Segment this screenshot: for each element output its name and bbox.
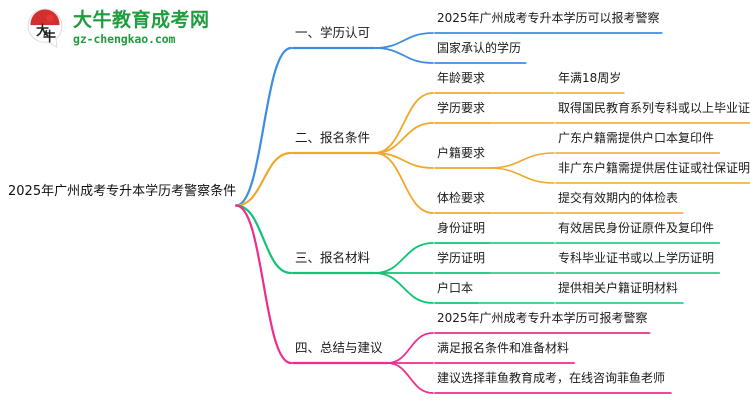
mindmap-links	[236, 33, 750, 393]
mindmap-node-depth-3[interactable]: 有效居民身份证原件及复印件	[558, 222, 714, 234]
mindmap-node-depth-1[interactable]: 一、学历认可	[295, 27, 370, 40]
mindmap-node-depth-1[interactable]: 二、报名条件	[295, 132, 370, 145]
mindmap-node-depth-1[interactable]: 三、报名材料	[295, 252, 370, 265]
mindmap-node-depth-3[interactable]: 提交有效期内的体检表	[558, 192, 678, 204]
mindmap-connector	[375, 243, 433, 273]
mindmap-node-depth-3[interactable]: 专科毕业证书或以上学历证明	[558, 252, 714, 264]
mindmap-connector	[375, 93, 433, 153]
mindmap-node-depth-2[interactable]: 身份证明	[437, 222, 485, 234]
mindmap-connector	[236, 153, 291, 206]
mindmap-connector	[236, 206, 291, 274]
mindmap-connector	[236, 206, 291, 364]
mindmap-root-node[interactable]: 2025年广州成考专升本学历考警察条件	[8, 185, 236, 198]
mindmap-node-depth-2[interactable]: 国家承认的学历	[437, 42, 521, 54]
mindmap-node-depth-3[interactable]: 提供相关户籍证明材料	[558, 282, 678, 294]
mindmap-connector	[375, 273, 433, 303]
mindmap-node-depth-2[interactable]: 学历证明	[437, 252, 485, 264]
mindmap-node-depth-2[interactable]: 满足报名条件和准备材料	[437, 342, 569, 354]
mindmap-node-depth-2[interactable]: 2025年广州成考专升本学历可报考警察	[437, 312, 648, 324]
mindmap-connector	[375, 123, 433, 153]
mindmap-connector	[489, 153, 554, 168]
mindmap-connector	[236, 48, 291, 206]
mindmap-connector	[375, 48, 433, 63]
mindmap-node-depth-2[interactable]: 2025年广州成考专升本学历可以报考警察	[437, 12, 660, 24]
mindmap-node-depth-2[interactable]: 户籍要求	[437, 147, 485, 159]
mindmap-connector	[375, 33, 433, 48]
mindmap-node-depth-1[interactable]: 四、总结与建议	[295, 342, 383, 355]
mindmap-connector	[387, 333, 433, 363]
mindmap-node-depth-2[interactable]: 学历要求	[437, 102, 485, 114]
mindmap-connector	[489, 168, 554, 183]
mindmap-node-depth-2[interactable]: 建议选择菲鱼教育成考，在线咨询菲鱼老师	[437, 372, 665, 384]
mindmap-connector	[387, 363, 433, 393]
mindmap-node-depth-2[interactable]: 年龄要求	[437, 72, 485, 84]
mindmap-node-depth-2[interactable]: 体检要求	[437, 192, 485, 204]
mindmap-connector	[375, 153, 433, 213]
mindmap-node-depth-3[interactable]: 取得国民教育系列专科或以上毕业证书	[558, 102, 750, 114]
mindmap-node-depth-3[interactable]: 非广东户籍需提供居住证或社保证明	[558, 162, 750, 174]
mindmap-node-depth-2[interactable]: 户口本	[437, 282, 473, 294]
mindmap-node-depth-3[interactable]: 年满18周岁	[558, 72, 621, 84]
mindmap-node-depth-3[interactable]: 广东户籍需提供户口本复印件	[558, 132, 714, 144]
